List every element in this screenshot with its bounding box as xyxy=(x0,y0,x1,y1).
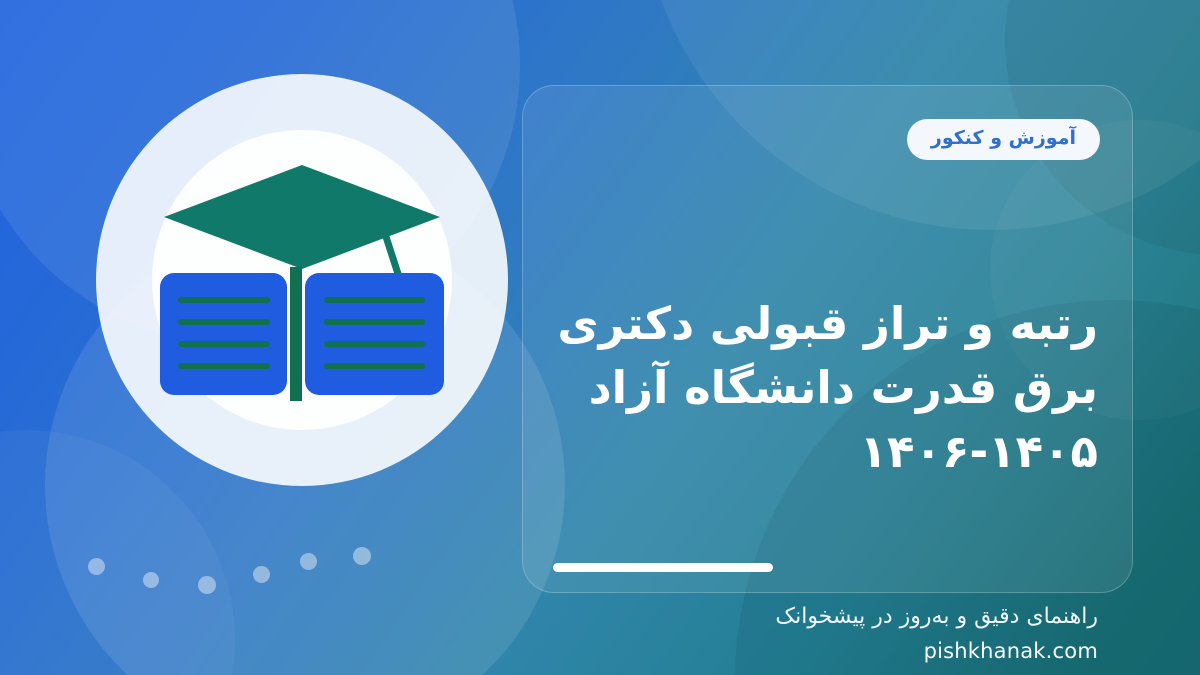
decorative-dot xyxy=(88,558,105,575)
illustration-medallion xyxy=(96,74,508,486)
banner-canvas: آموزش و کنکور رتبه و تراز قبولی دکتری بر… xyxy=(0,0,1200,675)
accent-bar xyxy=(553,563,773,572)
decorative-dot-row xyxy=(88,530,388,590)
subtitle-text: راهنمای دقیق و به‌روز در پیشخوانک xyxy=(553,603,1098,632)
content-card: آموزش و کنکور رتبه و تراز قبولی دکتری بر… xyxy=(522,85,1133,593)
decorative-dot xyxy=(143,572,159,588)
decorative-dot xyxy=(253,566,270,583)
decorative-dot xyxy=(300,553,317,570)
decorative-dot xyxy=(353,547,371,565)
graduation-cap-and-open-book-icon xyxy=(152,155,452,405)
page-title: رتبه و تراز قبولی دکتری برق قدرت دانشگاه… xyxy=(553,292,1098,484)
decorative-dot xyxy=(198,576,216,594)
category-badge[interactable]: آموزش و کنکور xyxy=(907,119,1100,160)
illustration-medallion-inner xyxy=(152,130,452,430)
site-domain-label: pishkhanak.com xyxy=(553,639,1098,663)
